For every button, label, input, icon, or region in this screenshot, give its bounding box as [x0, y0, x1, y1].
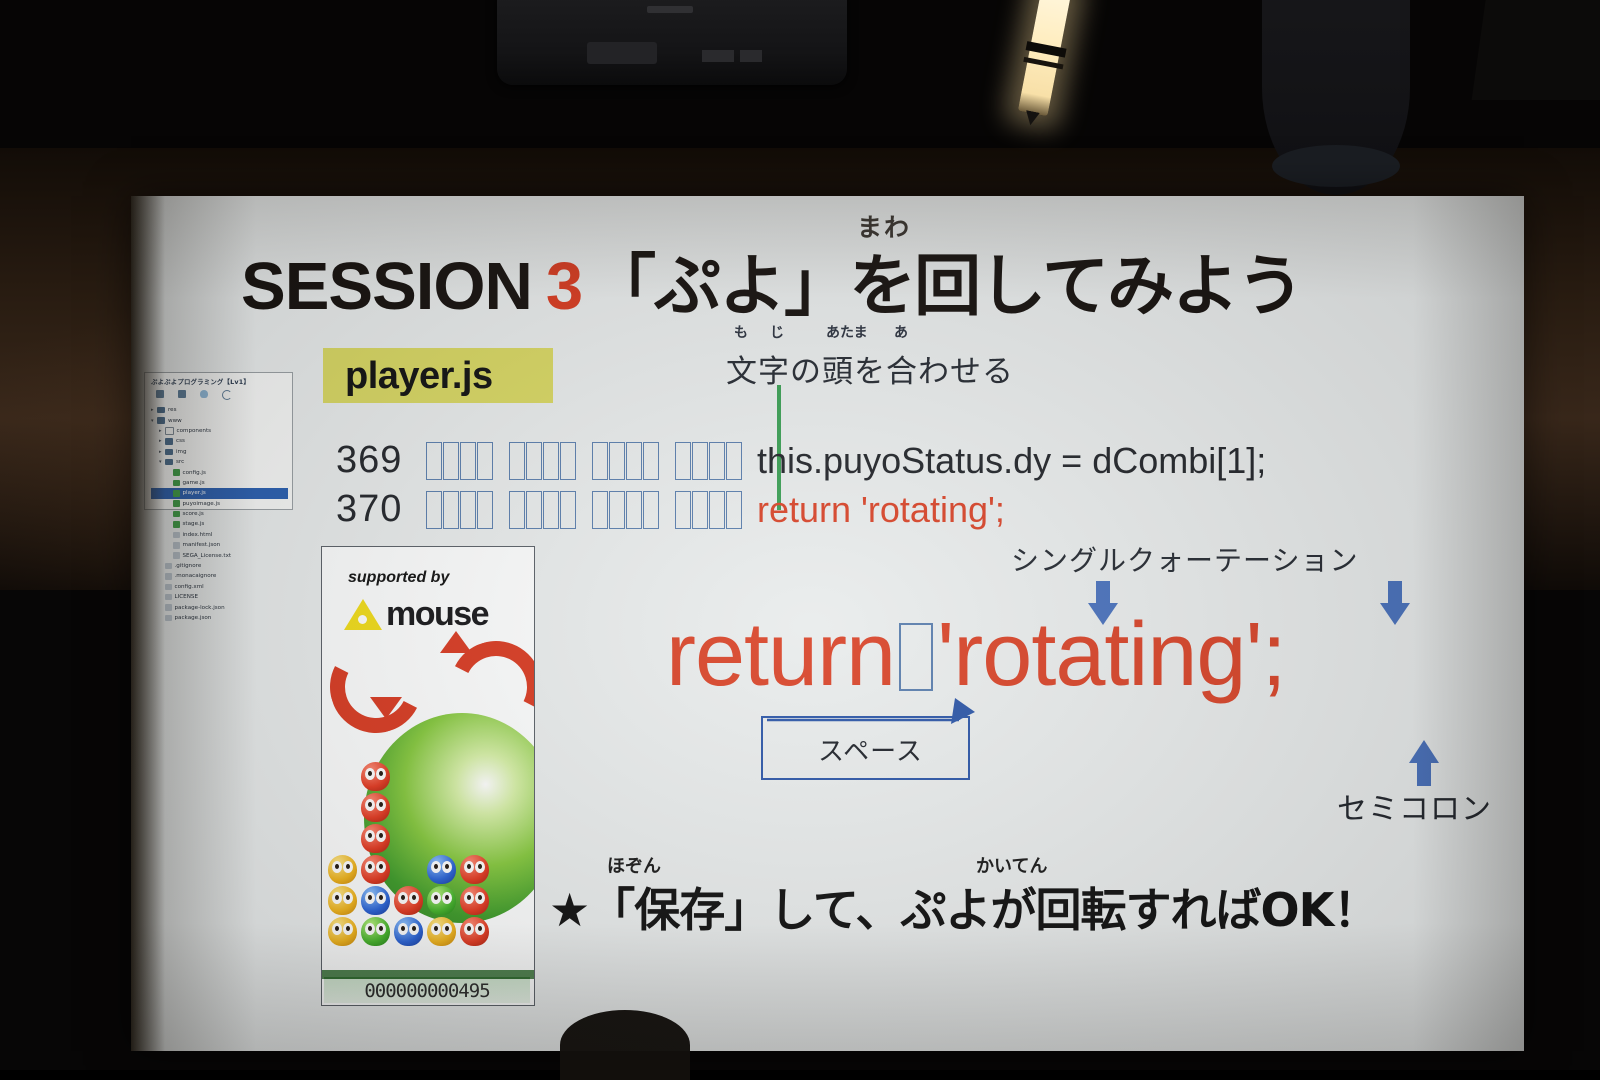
file-tree-item[interactable]: .gitignore	[151, 561, 288, 571]
file-tree-item-label: src	[176, 459, 184, 465]
space-label: スペース	[818, 731, 923, 768]
file-tree-item-label: css	[176, 438, 185, 444]
projector-vent	[702, 50, 734, 62]
file-tree-item-label: score.js	[183, 511, 204, 517]
file-explorer-header: ぷよぷよプログラミング【Lv1】	[151, 377, 288, 386]
title-japanese: 「ぷよ」を回してみよう	[589, 247, 1302, 325]
puyo-yellow	[427, 917, 456, 946]
align-note-text: 文字の頭を合わせる	[726, 354, 1014, 390]
puyo-red	[361, 762, 390, 791]
file-tree-item[interactable]: ▸res	[151, 405, 288, 415]
file-tree-item[interactable]: index.html	[151, 530, 288, 540]
upload-icon[interactable]	[200, 390, 208, 398]
single-quote-label: シングルクォーテーション	[1011, 539, 1358, 579]
component-icon	[165, 427, 174, 436]
bottom-instruction: ほぞん かいてん ★「保存」して、ぷよが回転すればOK！	[549, 874, 1378, 940]
file-tree-item[interactable]: game.js	[151, 478, 288, 488]
puyo-red	[361, 855, 390, 884]
file-tree-item-label: puyoimage.js	[183, 501, 221, 507]
file-tree-item[interactable]: manifest.json	[151, 540, 288, 550]
sponsor-name: mouse	[386, 595, 488, 634]
bottom-furigana-1: ほぞん	[607, 852, 661, 878]
indent-boxes	[426, 442, 753, 480]
js-icon	[173, 511, 180, 518]
code-row: 369 this.puyoStatus.dy = dCombi[1];	[336, 436, 1266, 485]
puyo-yellow	[328, 855, 357, 884]
file-tree-item[interactable]: config.js	[151, 467, 288, 477]
file-tree-item-label: config.js	[183, 470, 206, 476]
file-tree-item[interactable]: player.js	[151, 488, 288, 498]
js-icon	[173, 469, 180, 476]
code-row: 370 return 'rotating';	[336, 485, 1266, 534]
file-tree-item-label: res	[168, 407, 177, 413]
file-tree-item-label: img	[176, 449, 187, 455]
cfg-icon	[165, 615, 172, 622]
file-tree-item-label: components	[177, 428, 212, 434]
generic-icon	[165, 584, 172, 591]
projector-vent-2	[740, 50, 762, 62]
title-furigana: まわ	[857, 208, 911, 244]
file-tree-item-label: player.js	[183, 490, 206, 496]
game-preview-screenshot: supported by mouse 000000000495	[321, 546, 535, 1006]
align-furigana-2: じ	[770, 322, 784, 342]
file-tree-item[interactable]: ▸img	[151, 447, 288, 457]
projector-device	[497, 0, 847, 85]
js-icon	[173, 480, 180, 487]
title-session-number: 3	[546, 249, 583, 324]
file-explorer-panel[interactable]: ぷよぷよプログラミング【Lv1】 ▸res▾www▸components▸css…	[144, 372, 293, 510]
projection-edge-shadow	[131, 196, 165, 1051]
js-icon	[173, 500, 180, 507]
rotate-arrow-head-right	[440, 631, 472, 653]
align-furigana-3: あたま	[826, 322, 868, 342]
title-session-word: SESSION	[241, 249, 532, 324]
file-tree-item-label: www	[168, 418, 182, 424]
generic-icon	[173, 532, 180, 539]
file-tree-item[interactable]: ▾src	[151, 457, 288, 467]
slide-title: まわ SESSION3「ぷよ」を回してみよう	[241, 232, 1302, 329]
line-number: 370	[336, 488, 426, 531]
file-tree-item-label: .gitignore	[175, 563, 202, 569]
file-tree-item-label: config.xml	[175, 584, 204, 590]
generic-icon	[173, 552, 180, 559]
file-tree-item[interactable]: stage.js	[151, 519, 288, 529]
file-tree-item-label: LICENSE	[175, 594, 198, 600]
puyo-red	[460, 917, 489, 946]
file-tree-item-label: game.js	[183, 480, 205, 486]
js-icon	[173, 521, 180, 528]
code-text: return 'rotating';	[753, 489, 1005, 531]
cfg-icon	[165, 604, 172, 611]
space-placeholder-box	[899, 623, 933, 691]
space-callout-box: スペース	[761, 716, 970, 780]
puyo-green	[427, 886, 456, 915]
file-tree-item[interactable]: config.xml	[151, 582, 288, 592]
file-tree-item[interactable]: .monacaignore	[151, 571, 288, 581]
score-display: 000000000495	[324, 977, 530, 1003]
file-tree-item[interactable]: ▸components	[151, 426, 288, 436]
projector-label	[647, 6, 693, 13]
puyo-blue	[427, 855, 456, 884]
puyo-blue	[361, 886, 390, 915]
js-icon	[173, 490, 180, 497]
projected-slide: まわ SESSION3「ぷよ」を回してみよう ぷよぷよプログラミング【Lv1】 …	[131, 196, 1524, 1051]
folder-icon	[165, 449, 173, 456]
file-tree-item-label: manifest.json	[183, 542, 221, 548]
file-tree-list[interactable]: ▸res▾www▸components▸css▸img▾srcconfig.js…	[151, 405, 288, 623]
puyo-blue	[394, 917, 423, 946]
arrow-down-icon-right	[1380, 581, 1410, 625]
generic-icon	[165, 573, 172, 580]
code-text: this.puyoStatus.dy = dCombi[1];	[753, 440, 1266, 482]
light-tube-tip	[1023, 110, 1039, 126]
cfg-icon	[173, 542, 180, 549]
generic-icon	[165, 563, 172, 570]
puyo-yellow	[328, 917, 357, 946]
bottom-instruction-text: ★「保存」して、ぷよが回転すればOK！	[549, 883, 1378, 937]
supported-by-label: supported by	[348, 569, 449, 587]
filename-highlight-badge: player.js	[323, 348, 553, 403]
ceiling-speaker	[1262, 0, 1410, 195]
align-note: も じ あたま あ 文字の頭を合わせる	[726, 346, 1014, 391]
puyo-red	[361, 824, 390, 853]
align-furigana-1: も	[734, 322, 748, 342]
puyo-red	[460, 886, 489, 915]
new-folder-icon[interactable]	[178, 390, 186, 398]
file-tree-item-label: package.json	[175, 615, 212, 621]
puyo-green	[361, 917, 390, 946]
puyo-red	[394, 886, 423, 915]
file-tree-item-label: package-lock.json	[175, 605, 225, 611]
projector-lens	[587, 42, 657, 64]
indent-boxes	[426, 491, 753, 529]
bottom-furigana-2: かいてん	[976, 852, 1047, 878]
rotate-arrow-head-left	[370, 697, 402, 719]
speaker-cone	[1272, 145, 1400, 187]
file-tree-item[interactable]: LICENSE	[151, 592, 288, 602]
file-tree-item[interactable]: package.json	[151, 613, 288, 623]
code-listing: 369 this.puyoStatus.dy = dCombi[1]; 370 …	[336, 436, 1266, 534]
puyo-red	[361, 793, 390, 822]
file-tree-item[interactable]: puyoimage.js	[151, 499, 288, 509]
file-tree-item[interactable]: ▾www	[151, 415, 288, 425]
file-tree-item-label: index.html	[183, 532, 213, 538]
arrow-up-icon	[1409, 740, 1439, 786]
puyo-red	[460, 855, 489, 884]
generic-icon	[165, 594, 172, 601]
folder-icon	[165, 438, 173, 445]
file-tree-item-label: .monacaignore	[175, 573, 217, 579]
mouse-logo-icon	[344, 599, 382, 630]
file-tree-item[interactable]: score.js	[151, 509, 288, 519]
align-furigana-4: あ	[894, 322, 908, 342]
filename-text: player.js	[345, 355, 493, 398]
file-tree-item-label: SEGA_License.txt	[183, 553, 232, 559]
refresh-icon[interactable]	[222, 390, 232, 400]
file-tree-item[interactable]: ▸css	[151, 436, 288, 446]
semicolon-label: セミコロン	[1337, 784, 1492, 828]
file-explorer-toolbar[interactable]	[156, 390, 288, 400]
line-number: 369	[336, 439, 426, 482]
puyo-yellow	[328, 886, 357, 915]
file-tree-item[interactable]: package-lock.json	[151, 602, 288, 612]
file-tree-item-label: stage.js	[183, 521, 205, 527]
file-tree-item[interactable]: SEGA_License.txt	[151, 550, 288, 560]
ceiling-edge	[1472, 0, 1600, 100]
folder-icon	[165, 459, 173, 466]
